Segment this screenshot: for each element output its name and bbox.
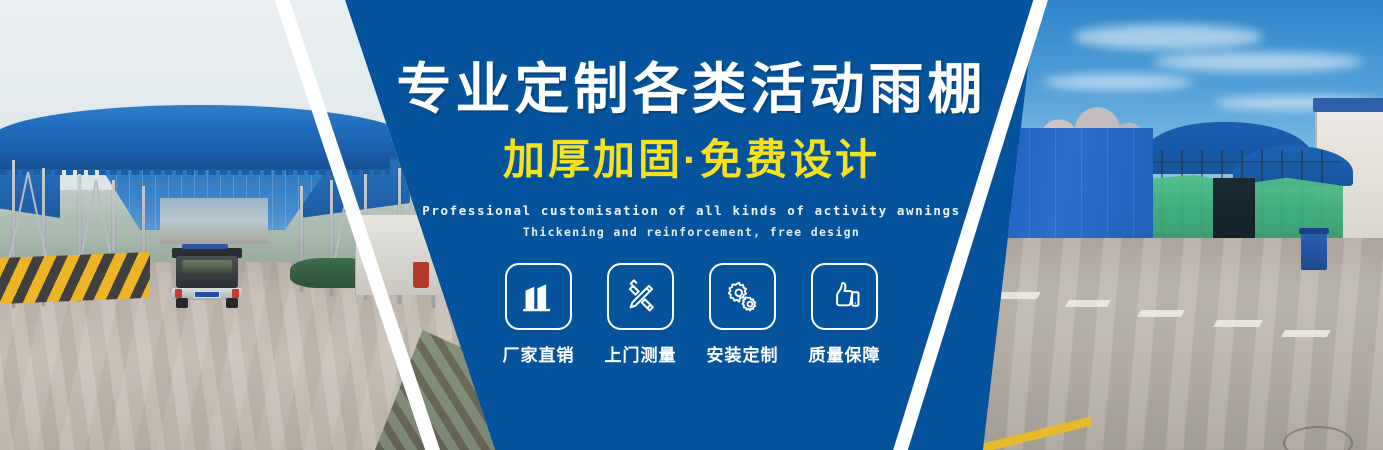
right-road-marking [1065,300,1111,307]
left-canopy-far-opening [160,198,268,244]
english-tagline-primary: Professional customisation of all kinds … [422,203,960,218]
gears-icon [724,278,762,316]
truck-taillight [232,289,239,298]
left-safety-barrier [0,252,150,304]
headline: 专业定制各类活动雨棚 [396,62,986,117]
photo-left-awning-tunnel [0,0,500,450]
truck-wheel [176,298,188,308]
feature-list: 厂家直销 上门测量 [503,263,881,366]
feature-icon-box [811,263,878,330]
feature-label: 安装定制 [707,341,779,366]
feature-label: 厂家直销 [503,341,575,366]
right-canopy-opening [1213,178,1255,240]
feature-item-onsite-measure[interactable]: 上门测量 [605,263,677,366]
thumbs-up-icon [826,278,864,316]
truck-license-plate [194,291,220,298]
right-road-marking [1281,330,1331,337]
truck-wheel [226,298,238,308]
feature-label: 上门测量 [605,341,677,366]
promo-banner: 专业定制各类活动雨棚 加厚加固·免费设计 Professional custom… [0,0,1383,450]
right-cloud [1073,24,1263,50]
english-tagline-secondary: Thickening and reinforcement, free desig… [523,225,860,239]
right-cloud [1043,74,1193,90]
truck-rear-window [182,260,232,273]
right-road-marking [1137,310,1185,317]
left-parked-truck [170,248,244,310]
truck-taillight [175,289,182,298]
feature-icon-box [607,263,674,330]
feature-item-custom-install[interactable]: 安装定制 [707,263,779,366]
photo-right-awning-yard [983,0,1383,450]
right-road-marking [1213,320,1263,327]
feature-icon-box [505,263,572,330]
feature-icon-box [709,263,776,330]
building-icon [520,278,558,316]
left-red-bin [413,262,429,288]
right-road-marking [997,292,1041,299]
right-cloud [1153,52,1363,72]
feature-item-factory-direct[interactable]: 厂家直销 [503,263,575,366]
feature-label: 质量保障 [809,341,881,366]
subheadline: 加厚加固·免费设计 [503,139,880,181]
pen-ruler-icon [622,278,660,316]
right-blue-trash-bin [1301,232,1327,270]
feature-item-quality-guarantee[interactable]: 质量保障 [809,263,881,366]
